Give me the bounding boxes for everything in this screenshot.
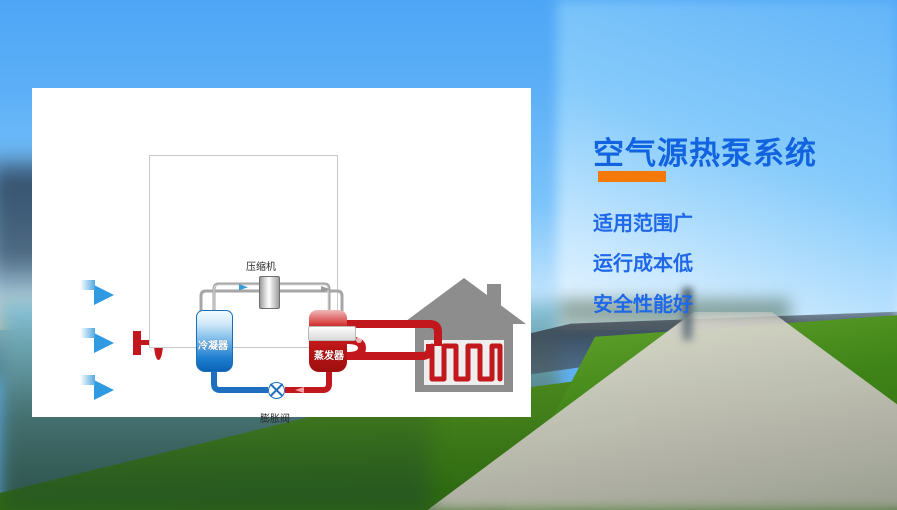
feature-item-0: 适用范围广	[593, 207, 693, 236]
slide-canvas: 压缩机 冷凝器 蒸发器 膨胀阀 空气源热泵系统 适用范围广 运行成本低 安全性能…	[0, 0, 897, 510]
page-title: 空气源热泵系统	[593, 128, 817, 173]
hot-liquid-pipe	[285, 372, 329, 393]
compressor-label: 压缩机	[246, 258, 276, 273]
cold-liquid-pipe	[211, 372, 268, 390]
condenser-label: 冷凝器	[198, 337, 228, 352]
house-roof	[402, 278, 526, 324]
house-with-floor-heating	[402, 278, 526, 392]
compressor-body	[259, 276, 280, 309]
schematic-drawing	[32, 88, 531, 417]
feature-item-2: 安全性能好	[593, 288, 693, 317]
expansion-valve-symbol	[268, 382, 285, 399]
evaporator-body	[309, 310, 347, 372]
diagram-card: 压缩机 冷凝器 蒸发器 膨胀阀	[32, 88, 531, 417]
coil-highlight-2	[356, 337, 362, 343]
feature-item-1: 运行成本低	[593, 247, 693, 276]
evaporator-label: 蒸发器	[314, 347, 344, 362]
floor-heating-coil	[432, 346, 500, 379]
expansion-valve-label: 膨胀阀	[260, 410, 290, 425]
title-accent-bar	[598, 171, 666, 182]
evaporator-plate	[308, 326, 356, 341]
